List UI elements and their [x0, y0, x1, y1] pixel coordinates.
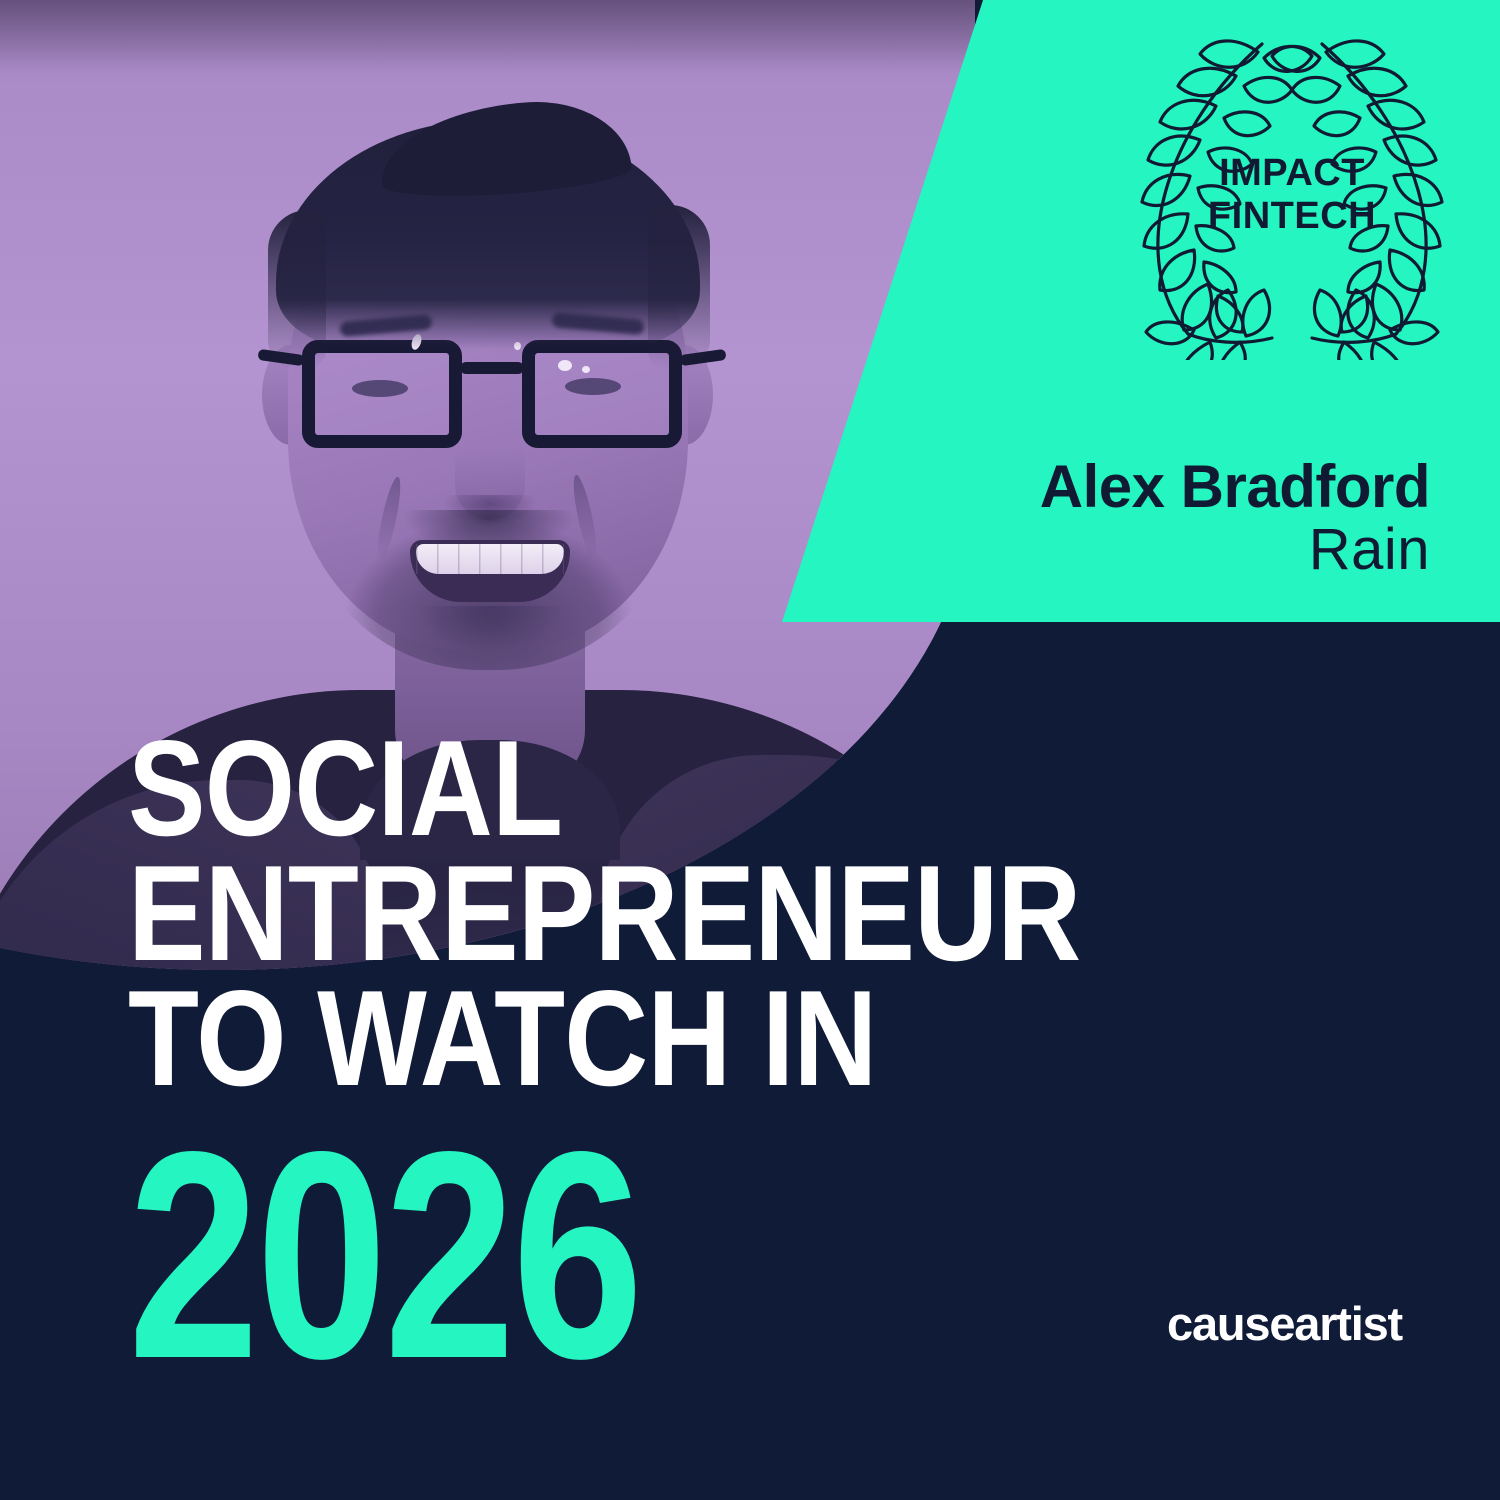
badge-title-line1: IMPACT — [1112, 152, 1472, 195]
causeartist-logo: causeartist — [1167, 1296, 1402, 1351]
badge-title: IMPACT FINTECH — [1112, 152, 1472, 237]
honoree-name: Alex Bradford — [1040, 452, 1430, 521]
headline-line-1: SOCIAL — [128, 726, 1240, 851]
award-poster: IMPACT FINTECH Alex Bradford Rain SOCIAL… — [0, 0, 1500, 1500]
headline: SOCIAL ENTREPRENEUR TO WATCH IN — [128, 726, 1240, 1101]
headline-line-2: ENTREPRENEUR — [128, 851, 1240, 976]
headline-year: 2026 — [128, 1108, 640, 1403]
badge-title-line2: FINTECH — [1112, 195, 1472, 238]
honoree-organization: Rain — [1309, 516, 1430, 583]
headline-line-3: TO WATCH IN — [128, 976, 1240, 1101]
